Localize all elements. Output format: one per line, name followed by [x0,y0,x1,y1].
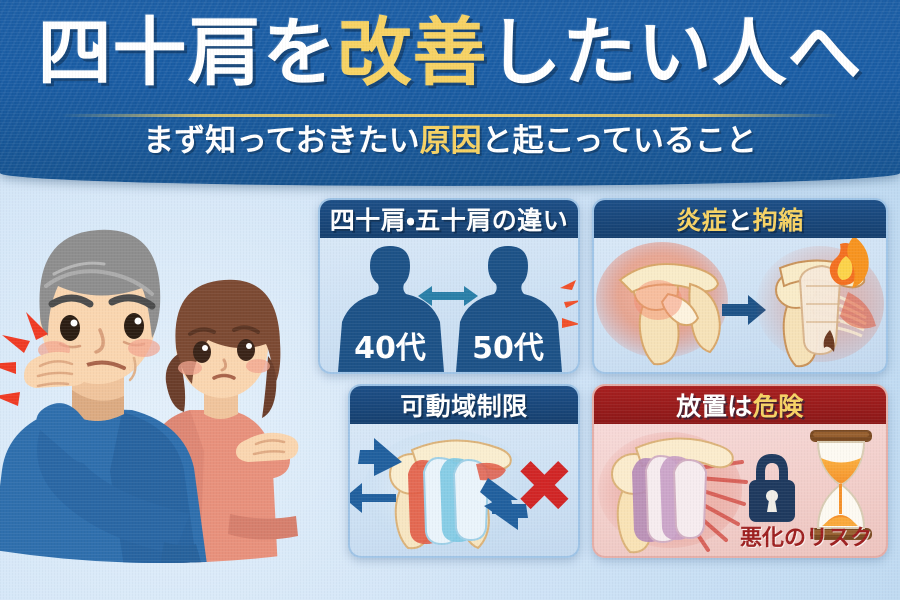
panel-range-of-motion[interactable]: 可動域制限 [348,384,580,558]
label-50s: 50代 [472,331,544,366]
subtitle-part-2-highlight: 原因 [420,123,482,159]
panel4-heading-part-2: 危険 [753,387,804,423]
panel-age-difference-body: 40代 50代 [320,238,578,372]
subtitle-part-1: まず知っておきたい [143,123,420,159]
inflamed-shoulder-diagram [596,242,728,364]
silhouette-40s: 40代 [338,246,444,372]
risk-footer-label: 悪化のリスク [740,520,872,552]
panel-risk-of-neglect[interactable]: 放置は危険 [592,384,888,558]
header-banner: 四十肩を改善したい人へ まず知っておきたい原因と起こっていること [0,0,900,186]
title-part-2-highlight: 改善 [338,10,488,96]
label-40s: 40代 [354,331,426,366]
page-subtitle: まず知っておきたい原因と起こっていること [0,124,900,158]
panel-range-of-motion-heading: 可動域制限 [350,386,578,424]
panel2-heading-part-3: 拘縮 [753,201,804,237]
lock-icon [749,454,795,522]
subtitle-part-3: と起こっていること [482,123,757,159]
panel-inflammation-body [594,238,886,372]
panel-range-of-motion-body [350,424,578,556]
infographic-poster: 四十肩を改善したい人へ まず知っておきたい原因と起こっていること [0,0,900,600]
panel2-heading-part-2: と [727,201,753,237]
panel-age-difference-heading: 四十肩・五十肩の違い [320,200,578,238]
page-title: 四十肩を改善したい人へ [0,16,900,90]
panel4-heading-part-1: 放置は [676,387,753,423]
panel-inflammation-contracture[interactable]: 炎症と拘縮 [592,198,888,374]
title-part-3: したい人へ [488,10,863,96]
title-divider-rule [60,114,840,117]
elderly-couple-illustration [0,178,324,588]
panel-risk-heading: 放置は危険 [594,386,886,424]
painful-shoulder-diagram [598,432,746,552]
panel-age-difference[interactable]: 四十肩・五十肩の違い 40代 50代 [318,198,580,374]
pain-burst-icon [560,280,578,328]
silhouette-50s: 50代 [456,246,562,372]
panel-inflammation-heading: 炎症と拘縮 [594,200,886,238]
panel2-heading-part-1: 炎症 [676,201,727,237]
panel3-heading-text: 可動域制限 [400,387,528,423]
double-arrow-icon [418,286,478,306]
title-part-1: 四十肩を [38,10,338,96]
panel1-heading-text: 四十肩・五十肩の違い [330,201,569,237]
